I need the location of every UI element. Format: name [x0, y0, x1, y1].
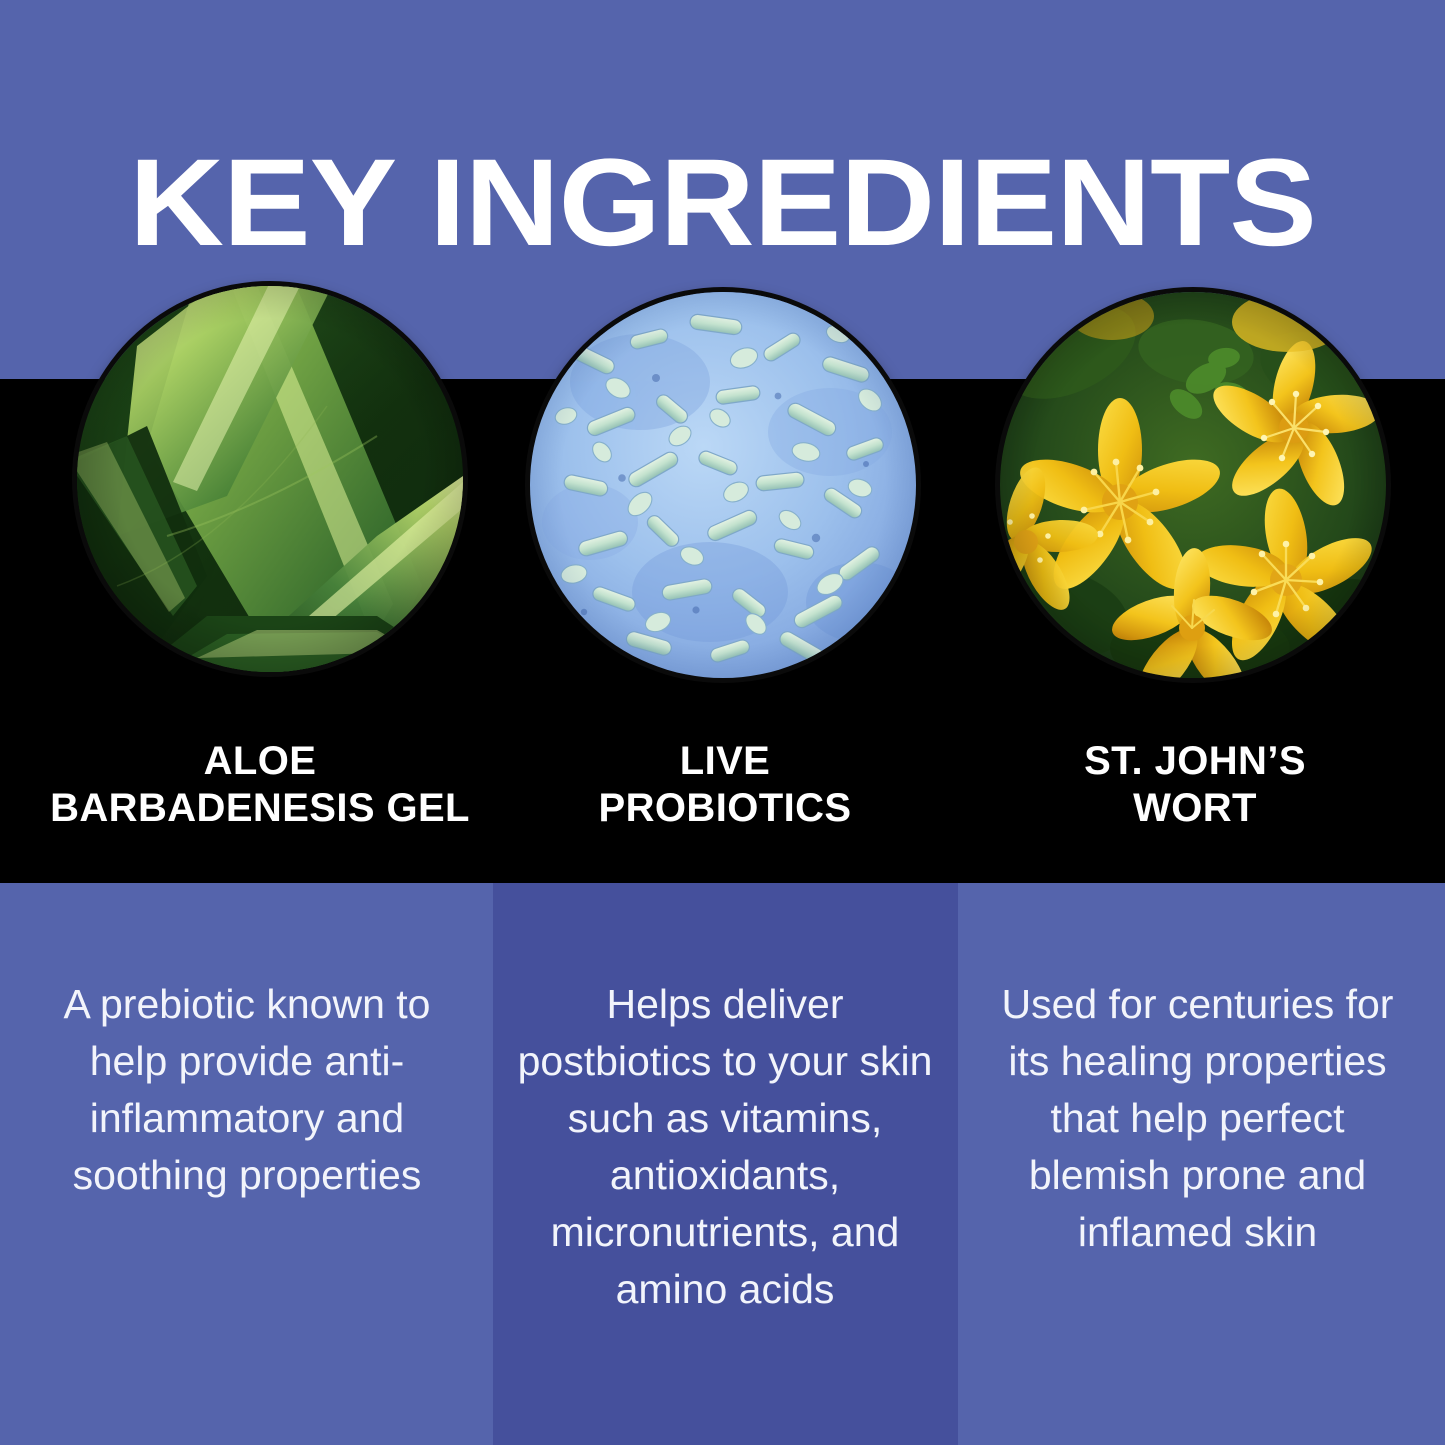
- probiotics-image-circle: [530, 292, 916, 678]
- ingredient-name-st-johns-wort: ST. JOHN’S WORT: [960, 738, 1430, 832]
- ingredient-name-st-johns-wort-line-2: WORT: [960, 785, 1430, 832]
- ingredient-description-st-johns-wort: Used for centuries for its healing prope…: [985, 976, 1410, 1261]
- ingredient-name-aloe-line-1: ALOE: [10, 738, 510, 785]
- ingredient-name-st-johns-wort-line-1: ST. JOHN’S: [960, 738, 1430, 785]
- ingredient-name-probiotics: LIVE PROBIOTICS: [495, 738, 955, 832]
- ingredient-name-aloe-line-2: BARBADENESIS GEL: [10, 785, 510, 832]
- st-johns-wort-image-circle: [1000, 292, 1386, 678]
- aloe-leaves-icon: [77, 286, 463, 672]
- probiotic-bacteria-microscopy-icon: [530, 292, 916, 678]
- ingredient-name-aloe: ALOE BARBADENESIS GEL: [10, 738, 510, 832]
- ingredient-description-probiotics: Helps deliver postbiotics to your skin s…: [515, 976, 935, 1318]
- ingredient-description-aloe: A prebiotic known to help provide anti-i…: [32, 976, 462, 1204]
- st-johns-wort-flowers-icon: [1000, 292, 1386, 678]
- key-ingredients-infographic: KEY INGREDIENTS: [0, 0, 1445, 1445]
- ingredient-name-probiotics-line-1: LIVE: [495, 738, 955, 785]
- aloe-image-circle: [77, 286, 463, 672]
- ingredient-name-probiotics-line-2: PROBIOTICS: [495, 785, 955, 832]
